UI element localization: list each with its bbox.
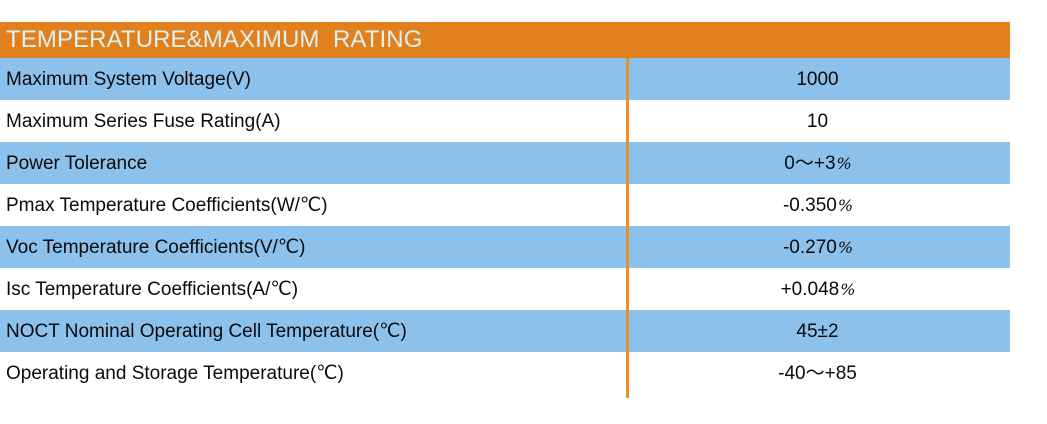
- row-value-unit: %: [839, 280, 855, 299]
- row-value-unit: %: [836, 154, 852, 173]
- row-label: Maximum Series Fuse Rating(A): [0, 112, 626, 131]
- row-value: -40～+85: [626, 364, 1010, 383]
- table-body: Maximum System Voltage(V) 1000 Maximum S…: [0, 58, 1010, 394]
- row-value: 10: [626, 112, 1010, 131]
- temperature-maximum-rating-table: TEMPERATURE&MAXIMUM RATING Maximum Syste…: [0, 22, 1010, 394]
- row-value-unit: [857, 364, 858, 383]
- row-value-text: 10: [807, 111, 828, 132]
- row-value-unit: [839, 70, 840, 89]
- table-row: NOCT Nominal Operating Cell Temperature(…: [0, 310, 1010, 352]
- row-label: Maximum System Voltage(V): [0, 70, 626, 89]
- row-label: Pmax Temperature Coefficients(W/℃): [0, 196, 626, 215]
- table-row: Operating and Storage Temperature(℃) -40…: [0, 352, 1010, 394]
- row-label: Voc Temperature Coefficients(V/℃): [0, 238, 626, 257]
- table-row: Maximum Series Fuse Rating(A) 10: [0, 100, 1010, 142]
- table-row: Voc Temperature Coefficients(V/℃) -0.270…: [0, 226, 1010, 268]
- row-value: 1000: [626, 70, 1010, 89]
- row-value: -0.350%: [626, 196, 1010, 215]
- row-value-text: 0～+3: [784, 153, 835, 174]
- row-value-unit: %: [837, 238, 853, 257]
- column-divider: [626, 58, 629, 398]
- table-title: TEMPERATURE&MAXIMUM RATING: [6, 28, 423, 52]
- row-label: Operating and Storage Temperature(℃): [0, 364, 626, 383]
- row-value-unit: %: [837, 196, 853, 215]
- row-label: Power Tolerance: [0, 154, 626, 173]
- table-row: Pmax Temperature Coefficients(W/℃) -0.35…: [0, 184, 1010, 226]
- row-value-text: 45±2: [796, 321, 838, 342]
- row-value-unit: [839, 322, 840, 341]
- row-value-unit: [828, 112, 829, 131]
- row-value: 45±2: [626, 322, 1010, 341]
- table-row: Isc Temperature Coefficients(A/℃) +0.048…: [0, 268, 1010, 310]
- row-value: -0.270%: [626, 238, 1010, 257]
- row-value: 0～+3%: [626, 154, 1010, 173]
- table-header: TEMPERATURE&MAXIMUM RATING: [0, 22, 1010, 58]
- row-label: NOCT Nominal Operating Cell Temperature(…: [0, 322, 626, 341]
- row-value-text: -40～+85: [778, 363, 857, 384]
- row-label: Isc Temperature Coefficients(A/℃): [0, 280, 626, 299]
- table-row: Maximum System Voltage(V) 1000: [0, 58, 1010, 100]
- row-value-text: -0.270: [783, 237, 837, 258]
- row-value-text: +0.048: [781, 279, 840, 300]
- row-value: +0.048%: [626, 280, 1010, 299]
- table-row: Power Tolerance 0～+3%: [0, 142, 1010, 184]
- row-value-text: 1000: [796, 69, 838, 90]
- row-value-text: -0.350: [783, 195, 837, 216]
